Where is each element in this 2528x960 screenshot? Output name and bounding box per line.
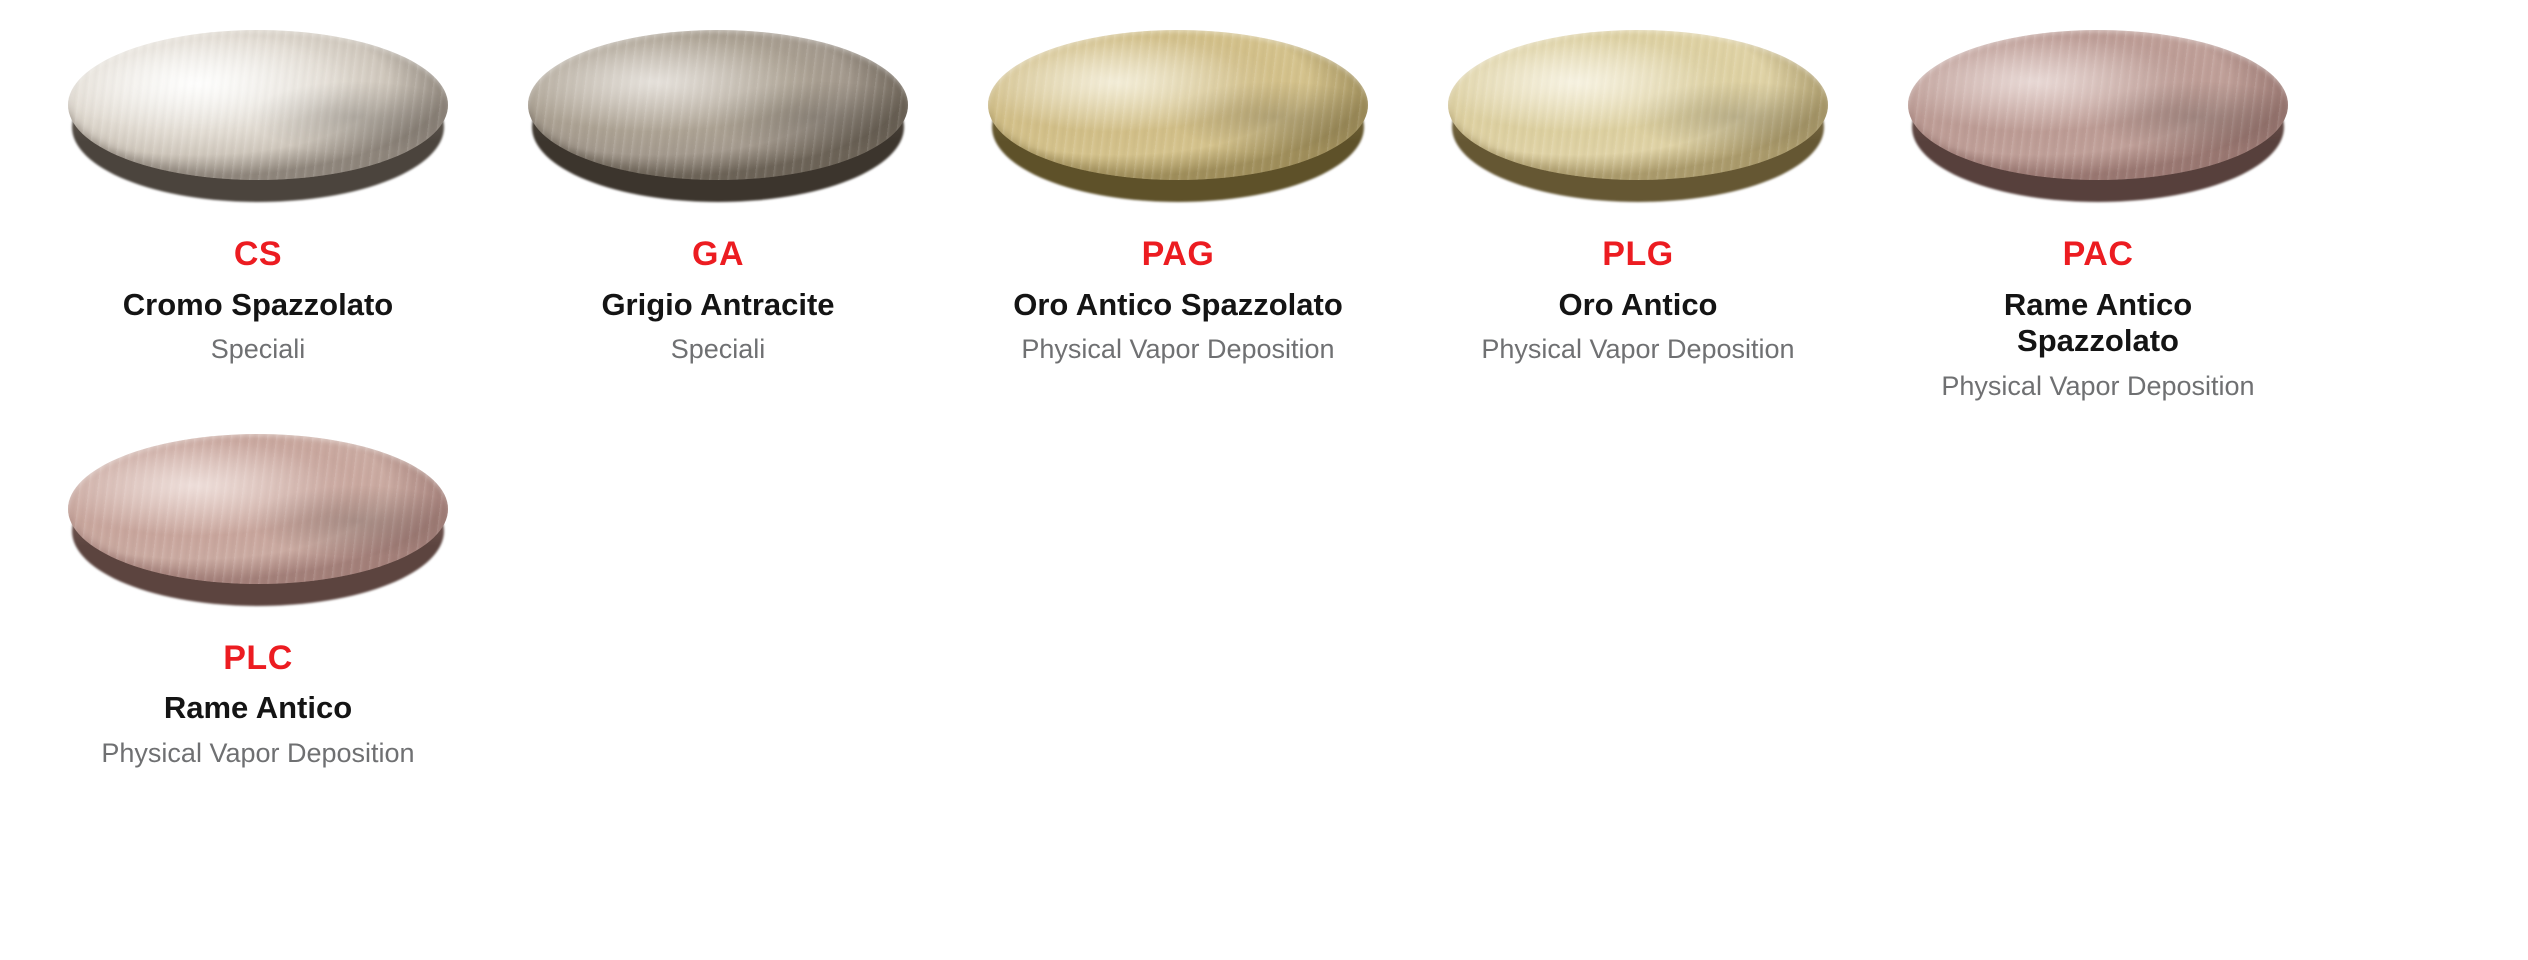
finish-code: GA xyxy=(692,237,744,273)
finish-card[interactable]: PAG Oro Antico Spazzolato Physical Vapor… xyxy=(948,0,1408,404)
finish-name: Rame Antico xyxy=(164,690,352,727)
finish-name: Grigio Antracite xyxy=(601,287,834,324)
finish-name: Oro Antico xyxy=(1558,287,1717,324)
finish-grid: CS Cromo Spazzolato Speciali GA Grigio A… xyxy=(0,0,2528,771)
finish-code: PLG xyxy=(1602,237,1673,273)
finish-category: Physical Vapor Deposition xyxy=(1941,370,2254,404)
swatch-wrap xyxy=(68,434,448,619)
finish-code: CS xyxy=(234,237,282,273)
finish-card[interactable]: CS Cromo Spazzolato Speciali xyxy=(28,0,488,404)
finish-name: Rame Antico Spazzolato xyxy=(1933,287,2263,360)
swatch-wrap xyxy=(988,30,1368,215)
finish-category: Speciali xyxy=(671,333,766,367)
finish-name: Oro Antico Spazzolato xyxy=(1013,287,1343,324)
finish-card[interactable]: GA Grigio Antracite Speciali xyxy=(488,0,948,404)
finish-code: PAC xyxy=(2063,237,2134,273)
swatch-wrap xyxy=(1448,30,1828,215)
finish-category: Physical Vapor Deposition xyxy=(1021,333,1334,367)
swatch-wrap xyxy=(1908,30,2288,215)
finish-category: Physical Vapor Deposition xyxy=(1481,333,1794,367)
cromo-spazzolato-swatch[interactable] xyxy=(68,30,448,180)
finish-name: Cromo Spazzolato xyxy=(123,287,393,324)
finish-category: Speciali xyxy=(211,333,306,367)
rame-antico-spazzolato-swatch[interactable] xyxy=(1908,30,2288,180)
swatch-wrap xyxy=(528,30,908,215)
oro-antico-spazzolato-swatch[interactable] xyxy=(988,30,1368,180)
finish-card[interactable]: PAC Rame Antico Spazzolato Physical Vapo… xyxy=(1868,0,2328,404)
finish-code: PAG xyxy=(1142,237,1215,273)
grigio-antracite-swatch[interactable] xyxy=(528,30,908,180)
oro-antico-swatch[interactable] xyxy=(1448,30,1828,180)
finish-code: PLC xyxy=(223,641,293,677)
rame-antico-swatch[interactable] xyxy=(68,434,448,584)
finish-card[interactable]: PLC Rame Antico Physical Vapor Depositio… xyxy=(28,404,488,771)
swatch-wrap xyxy=(68,30,448,215)
finish-category: Physical Vapor Deposition xyxy=(101,737,414,771)
finish-card[interactable]: PLG Oro Antico Physical Vapor Deposition xyxy=(1408,0,1868,404)
